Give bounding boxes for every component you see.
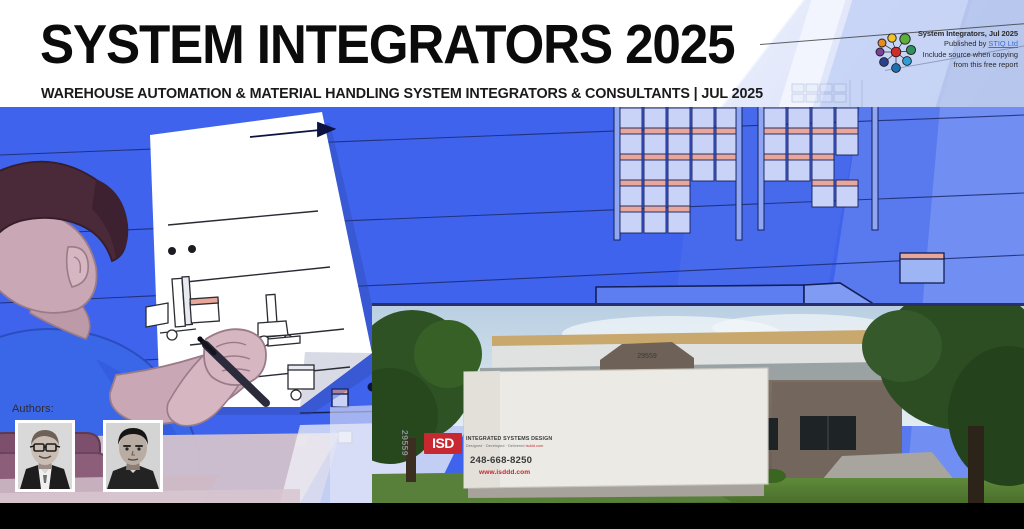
header-rack-sketch-icon (790, 80, 880, 107)
credit-line-4: from this free report (898, 60, 1018, 71)
credit-published-by: Published by (944, 39, 988, 48)
sign-street-number: 29559 (400, 430, 410, 456)
sign-tagline: Designed · Developed · Delivered isddd.c… (466, 444, 543, 448)
stiq-link[interactable]: STIQ Ltd (988, 39, 1018, 48)
office-building-photo: 29559 (372, 303, 1024, 503)
bottom-black-bar (0, 503, 1024, 529)
sign-phone: 248-668-8250 (470, 455, 532, 466)
author-photo-1 (15, 420, 75, 492)
author-photo-2 (103, 420, 163, 492)
page-title: SYSTEM INTEGRATORS 2025 (40, 17, 734, 72)
sign-tagline-url: isddd.com (526, 444, 544, 448)
sign-website: www.isddd.com (479, 469, 530, 476)
header-banner: SYSTEM INTEGRATORS 2025 WAREHOUSE AUTOMA… (0, 0, 1024, 107)
credit-line-2: Published by STIQ Ltd (898, 39, 1018, 50)
isd-logo-text: ISD (424, 433, 462, 454)
page-subtitle: WAREHOUSE AUTOMATION & MATERIAL HANDLING… (41, 85, 763, 102)
authors-label: Authors: (12, 403, 54, 415)
report-cover-page: SYSTEM INTEGRATORS 2025 WAREHOUSE AUTOMA… (0, 0, 1024, 529)
sign-company-name: INTEGRATED SYSTEMS DESIGN (466, 436, 552, 442)
sign-tagline-text: Designed · Developed · Delivered (466, 444, 525, 448)
publisher-credit: System Integrators, Jul 2025 Published b… (898, 28, 1018, 71)
isd-logo-badge: ISD (424, 433, 462, 454)
svg-text:29559: 29559 (637, 353, 657, 360)
credit-line-1: System Integrators, Jul 2025 (898, 28, 1018, 39)
credit-line-3: Include source when copying (898, 50, 1018, 61)
